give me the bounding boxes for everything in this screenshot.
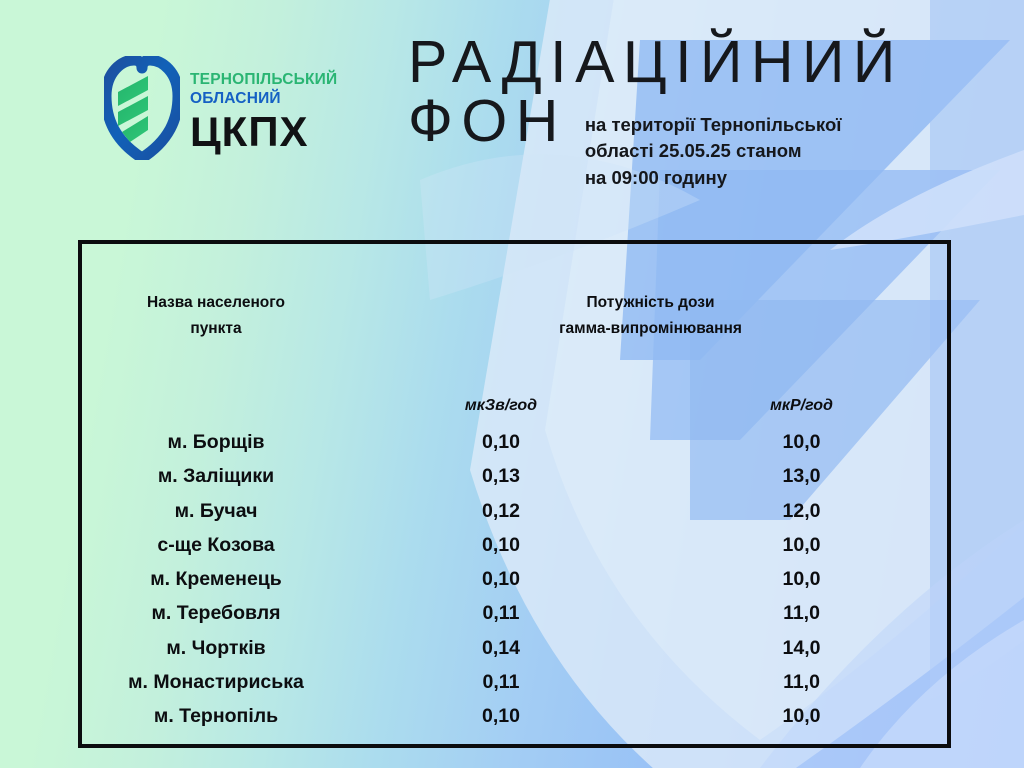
table-row: м. Борщів 0,10 10,0 xyxy=(82,425,951,459)
cell-ur: 10,0 xyxy=(652,563,951,597)
cell-usv: 0,11 xyxy=(350,597,652,631)
spacer-cell xyxy=(350,734,652,744)
spacer-cell xyxy=(82,734,350,744)
title-block: РАДІАЦІЙНИЙ ФОН на території Тернопільсь… xyxy=(408,34,1008,192)
cell-settlement: м. Чортків xyxy=(82,631,350,665)
poster-header: ТЕРНОПІЛЬСЬКИЙ ОБЛАСНИЙ ЦКПХ РАДІАЦІЙНИЙ… xyxy=(0,0,1024,238)
cell-ur: 10,0 xyxy=(652,425,951,459)
cell-ur: 13,0 xyxy=(652,460,951,494)
cell-ur: 10,0 xyxy=(652,528,951,562)
cell-ur: 10,0 xyxy=(652,700,951,734)
cell-usv: 0,10 xyxy=(350,528,652,562)
spacer-cell xyxy=(652,734,951,744)
logo-wordmark: ТЕРНОПІЛЬСЬКИЙ ОБЛАСНИЙ ЦКПХ xyxy=(190,56,337,154)
header-dose-line-2: гамма-випромінювання xyxy=(350,316,951,342)
unit-microroentgen: мкР/год xyxy=(652,387,951,425)
logo-line-1: ТЕРНОПІЛЬСЬКИЙ xyxy=(190,70,337,89)
table-row: м. Теребовля 0,11 11,0 xyxy=(82,597,951,631)
cell-usv: 0,13 xyxy=(350,460,652,494)
header-settlement-line-2: пункта xyxy=(82,316,350,342)
cell-settlement: м. Борщів xyxy=(82,425,350,459)
table-row: м. Монастириська 0,11 11,0 xyxy=(82,665,951,699)
unit-microsievert: мкЗв/год xyxy=(350,387,652,425)
cell-ur: 12,0 xyxy=(652,494,951,528)
radiation-table-container: Назва населеного пункта Потужність дози … xyxy=(78,240,951,748)
cell-settlement: м. Заліщики xyxy=(82,460,350,494)
cell-settlement: м. Монастириська xyxy=(82,665,350,699)
table-row: с-ще Козова 0,10 10,0 xyxy=(82,528,951,562)
header-settlement-line-1: Назва населеного xyxy=(82,290,350,316)
cell-usv: 0,11 xyxy=(350,665,652,699)
organization-logo: ТЕРНОПІЛЬСЬКИЙ ОБЛАСНИЙ ЦКПХ xyxy=(104,56,337,160)
table-row: м. Заліщики 0,13 13,0 xyxy=(82,460,951,494)
cell-settlement: м. Тернопіль xyxy=(82,700,350,734)
cell-settlement: м. Теребовля xyxy=(82,597,350,631)
subtitle-line-3: на 09:00 годину xyxy=(585,165,842,192)
table-bottom-spacer xyxy=(82,734,951,744)
logo-abbreviation: ЦКПХ xyxy=(190,111,337,154)
header-dose-rate: Потужність дози гамма-випромінювання xyxy=(350,244,951,387)
cell-settlement: м. Кременець xyxy=(82,563,350,597)
subtitle-line-2: області 25.05.25 станом xyxy=(585,138,842,165)
table-units-row: мкЗв/год мкР/год xyxy=(82,387,951,425)
logo-line-2: ОБЛАСНИЙ xyxy=(190,89,337,108)
subtitle: на території Тернопільської області 25.0… xyxy=(585,92,842,192)
cell-settlement: м. Бучач xyxy=(82,494,350,528)
radiation-table: Назва населеного пункта Потужність дози … xyxy=(82,244,951,744)
cell-usv: 0,10 xyxy=(350,563,652,597)
table-row: м. Кременець 0,10 10,0 xyxy=(82,563,951,597)
header-settlement: Назва населеного пункта xyxy=(82,244,350,387)
units-blank-cell xyxy=(82,387,350,425)
cell-ur: 11,0 xyxy=(652,665,951,699)
table-row: м. Чортків 0,14 14,0 xyxy=(82,631,951,665)
shield-heart-icon xyxy=(104,56,180,160)
subtitle-line-1: на території Тернопільської xyxy=(585,112,842,139)
page-title-line-1: РАДІАЦІЙНИЙ xyxy=(408,34,1008,92)
table-row: м. Тернопіль 0,10 10,0 xyxy=(82,700,951,734)
table-row: м. Бучач 0,12 12,0 xyxy=(82,494,951,528)
cell-usv: 0,10 xyxy=(350,425,652,459)
cell-ur: 14,0 xyxy=(652,631,951,665)
cell-settlement: с-ще Козова xyxy=(82,528,350,562)
cell-usv: 0,12 xyxy=(350,494,652,528)
poster-root: ТЕРНОПІЛЬСЬКИЙ ОБЛАСНИЙ ЦКПХ РАДІАЦІЙНИЙ… xyxy=(0,0,1024,768)
cell-usv: 0,10 xyxy=(350,700,652,734)
table-header-row: Назва населеного пункта Потужність дози … xyxy=(82,244,951,387)
header-dose-line-1: Потужність дози xyxy=(350,290,951,316)
title-row-2: ФОН на території Тернопільської області … xyxy=(408,92,1008,192)
page-title-line-2: ФОН xyxy=(408,92,567,151)
cell-ur: 11,0 xyxy=(652,597,951,631)
cell-usv: 0,14 xyxy=(350,631,652,665)
